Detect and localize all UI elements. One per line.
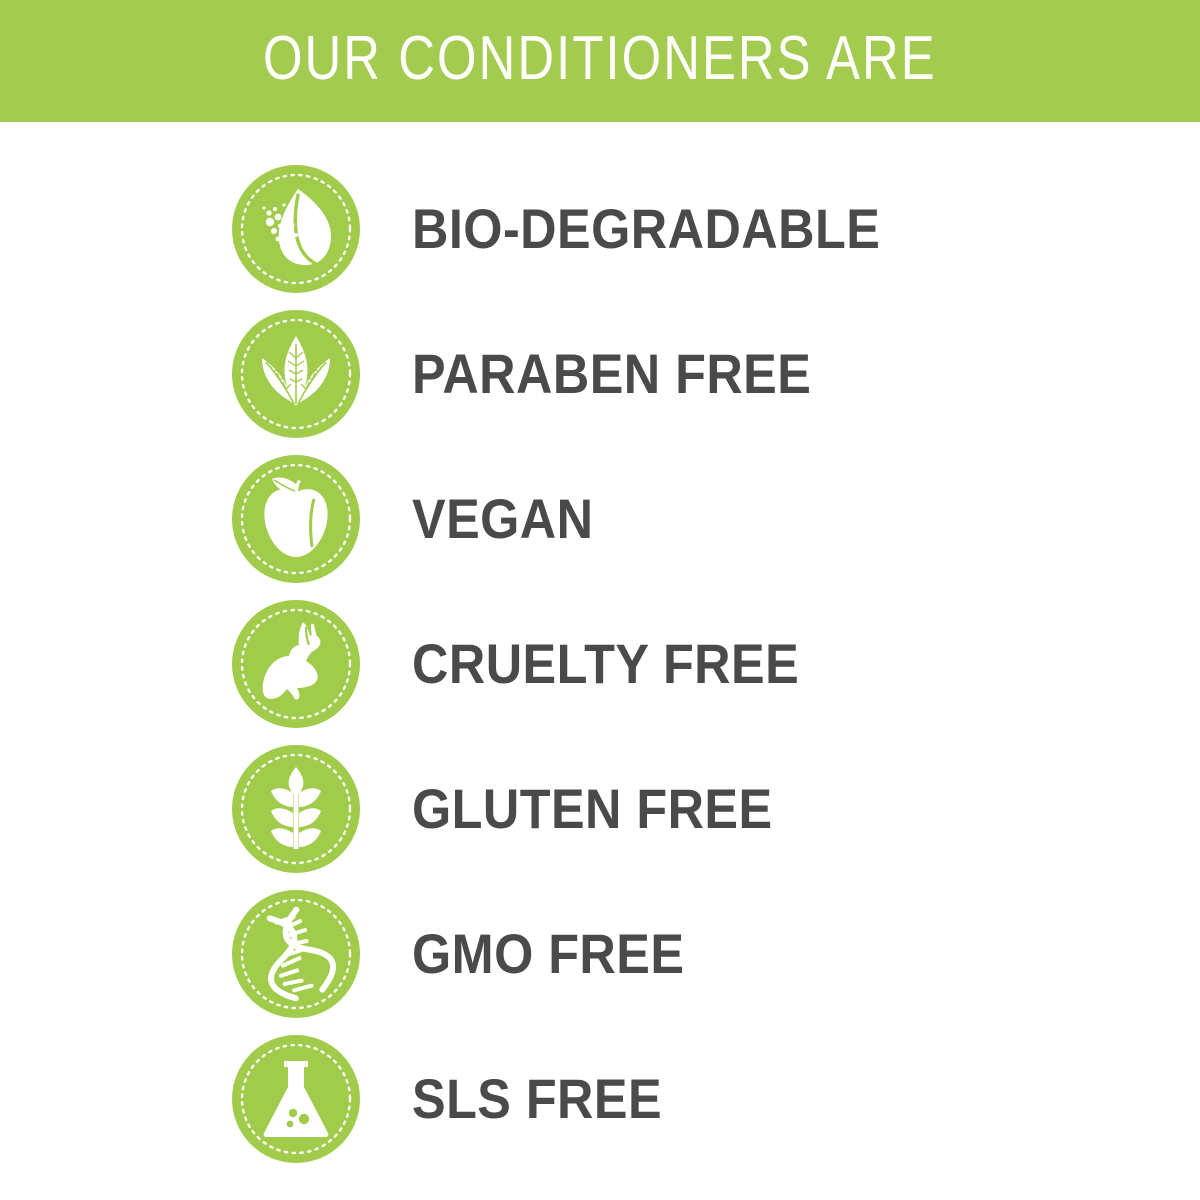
list-item-label: BIO-DEGRADABLE bbox=[412, 201, 880, 257]
badge-rabbit bbox=[232, 600, 360, 728]
page-title: OUR CONDITIONERS ARE bbox=[263, 28, 937, 94]
infographic-page: OUR CONDITIONERS ARE bbox=[0, 0, 1200, 1200]
dna-helix-icon bbox=[232, 890, 360, 1018]
badge-dissolving-leaf bbox=[232, 165, 360, 293]
list-item: VEGAN bbox=[232, 455, 1092, 583]
list-item: GMO FREE bbox=[232, 890, 1092, 1018]
list-item-label: SLS FREE bbox=[412, 1071, 662, 1127]
list-item-label: PARABEN FREE bbox=[412, 346, 811, 402]
rabbit-icon bbox=[232, 600, 360, 728]
list-item-label: GMO FREE bbox=[412, 926, 684, 982]
list-item-label: CRUELTY FREE bbox=[412, 636, 799, 692]
badge-apple bbox=[232, 455, 360, 583]
badge-dna bbox=[232, 890, 360, 1018]
list-item: GLUTEN FREE bbox=[232, 745, 1092, 873]
header-band: OUR CONDITIONERS ARE bbox=[0, 0, 1200, 122]
erlenmeyer-flask-icon bbox=[232, 1035, 360, 1163]
list-item: PARABEN FREE bbox=[232, 310, 1092, 438]
list-item: BIO-DEGRADABLE bbox=[232, 165, 1092, 293]
badge-flask bbox=[232, 1035, 360, 1163]
list-item-label: VEGAN bbox=[412, 491, 593, 547]
dissolving-leaf-icon bbox=[232, 165, 360, 293]
list-item-label: GLUTEN FREE bbox=[412, 781, 773, 837]
badge-wheat bbox=[232, 745, 360, 873]
wheat-stalk-icon bbox=[232, 745, 360, 873]
list-item: CRUELTY FREE bbox=[232, 600, 1092, 728]
list-item: SLS FREE bbox=[232, 1035, 1092, 1163]
apple-icon bbox=[232, 455, 360, 583]
badge-three-leaves bbox=[232, 310, 360, 438]
attribute-list: BIO-DEGRADABLE bbox=[0, 122, 1200, 1200]
three-leaves-icon bbox=[232, 310, 360, 438]
